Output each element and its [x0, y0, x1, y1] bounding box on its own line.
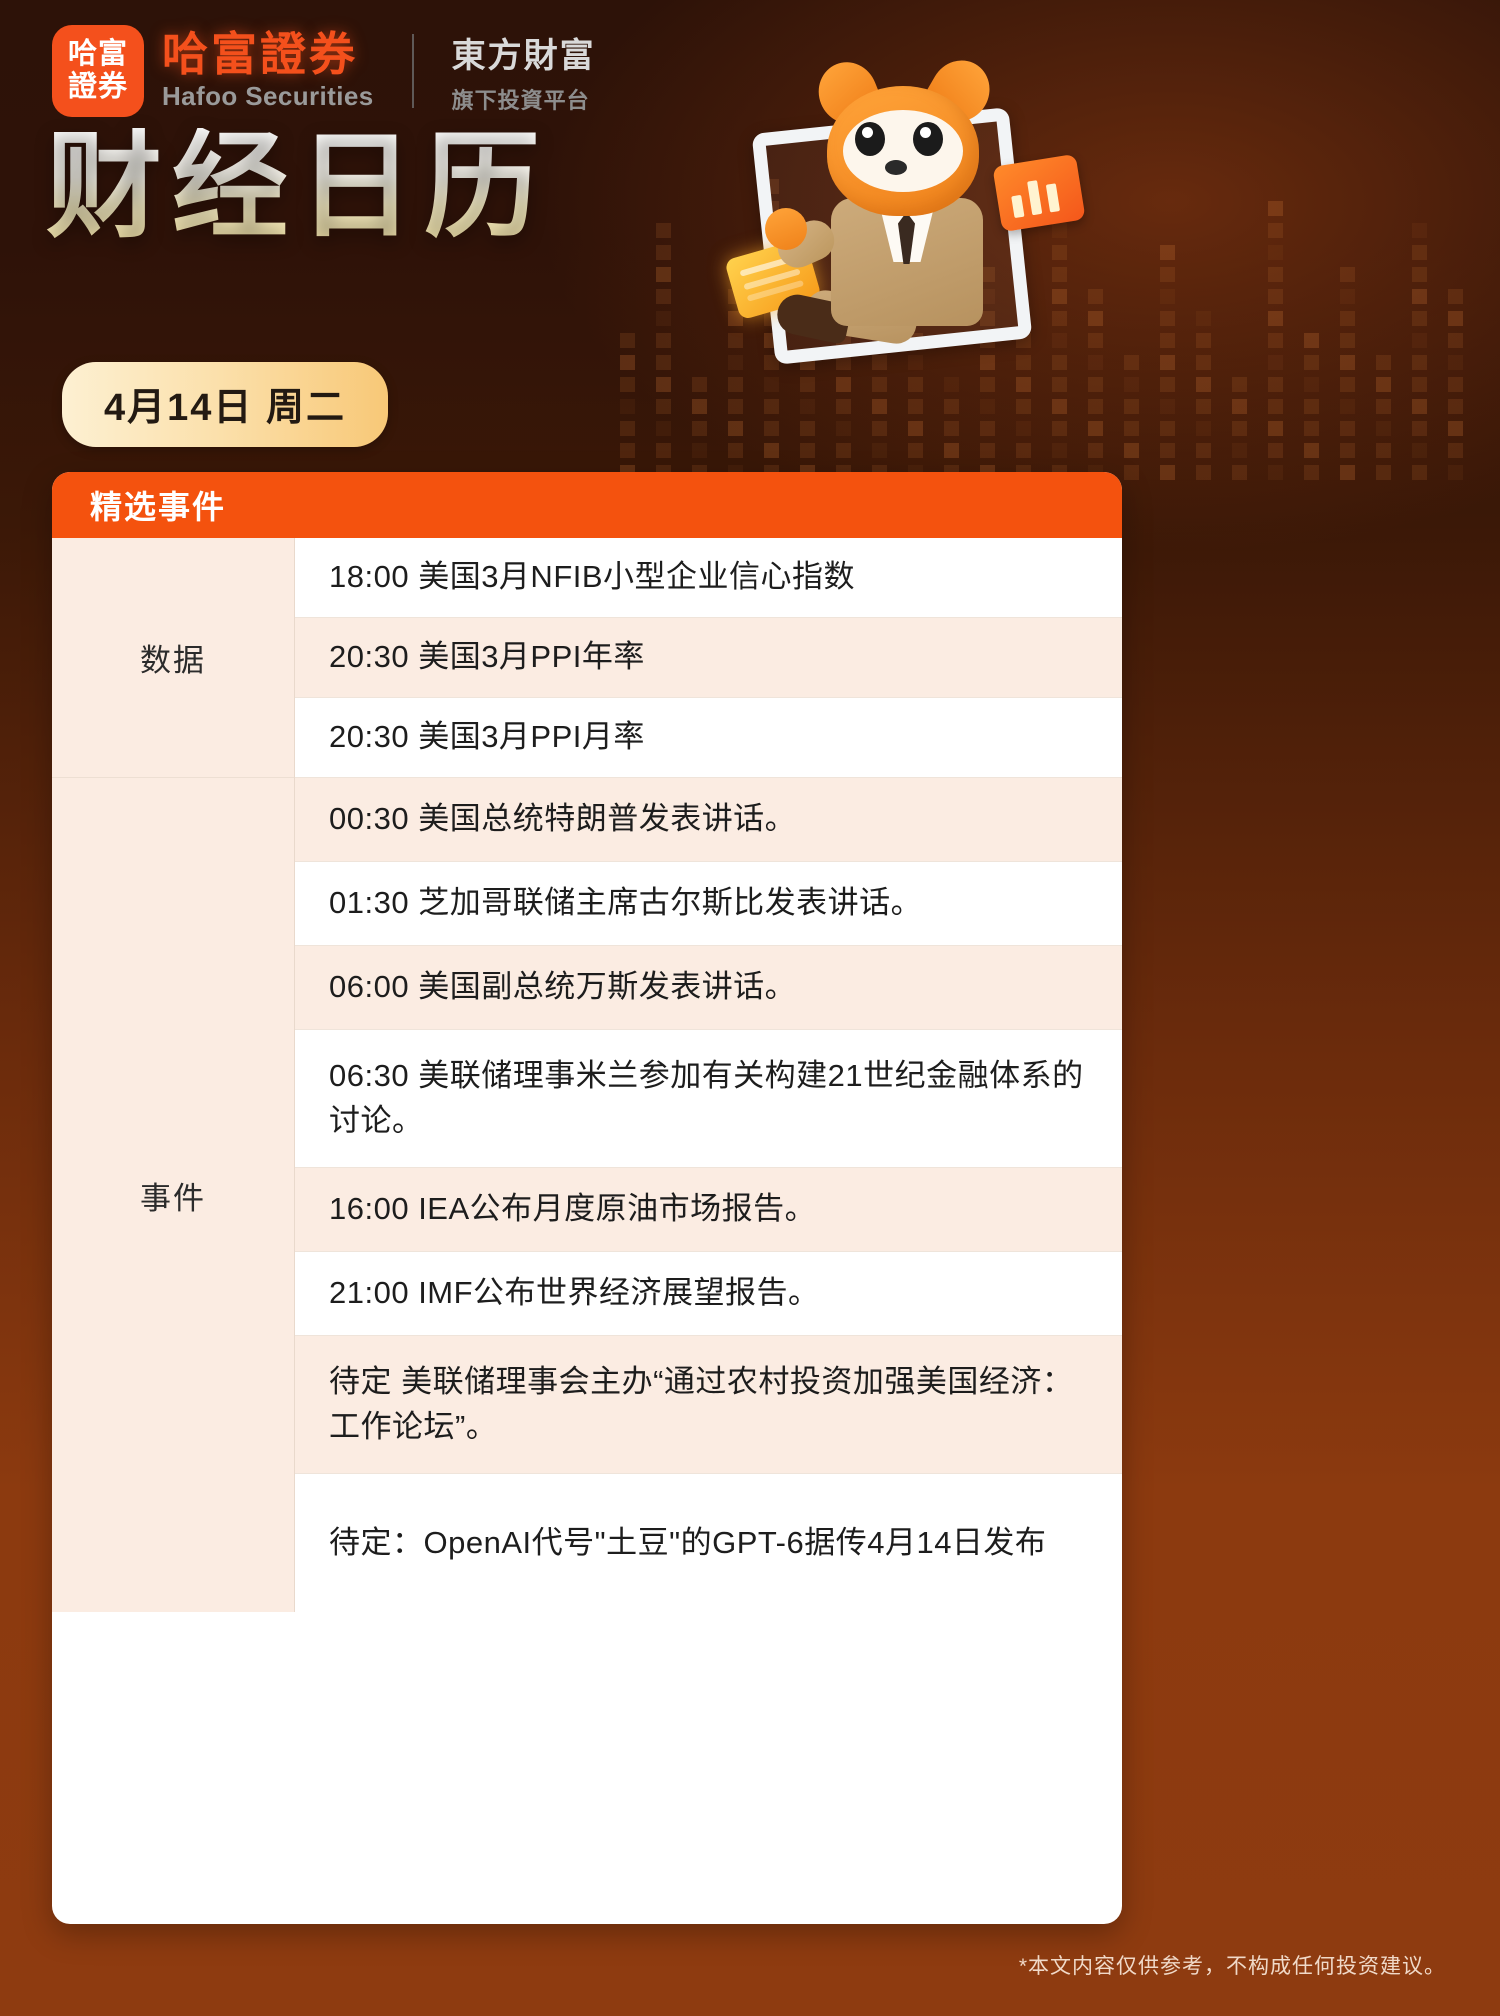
mascot-illustration: [735, 48, 1135, 368]
poster-background: 哈富 證券 哈富證券 Hafoo Securities 東方財富 旗下投資平台 …: [0, 0, 1500, 2016]
page-title: 财经日历: [46, 128, 550, 244]
chart-card-icon: [992, 154, 1085, 232]
logo-mark-line2: 證券: [68, 73, 128, 102]
event-row[interactable]: 06:00 美国副总统万斯发表讲话。: [295, 946, 1122, 1030]
brand-names: 哈富證券 Hafoo Securities: [162, 30, 374, 111]
mascot-hand: [765, 208, 807, 250]
events-table: 数据事件 18:00 美国3月NFIB小型企业信心指数20:30 美国3月PPI…: [52, 538, 1122, 1612]
event-row[interactable]: 待定：OpenAI代号"土豆"的GPT-6据传4月14日发布: [295, 1474, 1122, 1612]
disclaimer-text: *本文内容仅供参考，不构成任何投资建议。: [1019, 1950, 1446, 1980]
card-header: 精选事件: [52, 472, 1122, 538]
event-row[interactable]: 16:00 IEA公布月度原油市场报告。: [295, 1168, 1122, 1252]
event-row[interactable]: 20:30 美国3月PPI年率: [295, 618, 1122, 698]
card-header-title: 精选事件: [90, 482, 226, 528]
event-row[interactable]: 06:30 美联储理事米兰参加有关构建21世纪金融体系的讨论。: [295, 1030, 1122, 1168]
logo-mark-line1: 哈富: [68, 40, 128, 69]
brand-divider: [412, 34, 414, 108]
event-row[interactable]: 待定 美联储理事会主办“通过农村投资加强美国经济：工作论坛”。: [295, 1336, 1122, 1474]
event-row[interactable]: 00:30 美国总统特朗普发表讲话。: [295, 778, 1122, 862]
event-row[interactable]: 20:30 美国3月PPI月率: [295, 698, 1122, 778]
logo-mark: 哈富 證券: [52, 25, 144, 117]
event-row[interactable]: 21:00 IMF公布世界经济展望报告。: [295, 1252, 1122, 1336]
event-row[interactable]: 01:30 芝加哥联储主席古尔斯比发表讲话。: [295, 862, 1122, 946]
category-label: 数据: [52, 538, 294, 778]
brand-name-en: Hafoo Securities: [162, 81, 374, 112]
events-column: 18:00 美国3月NFIB小型企业信心指数20:30 美国3月PPI年率20:…: [295, 538, 1122, 1612]
parent-brand-subtitle: 旗下投資平台: [452, 83, 596, 115]
event-row[interactable]: 18:00 美国3月NFIB小型企业信心指数: [295, 538, 1122, 618]
parent-brand-name: 東方財富: [452, 28, 596, 77]
mascot-nose: [885, 160, 907, 175]
date-badge: 4月14日 周二: [62, 362, 388, 447]
parent-brand: 東方財富 旗下投資平台: [452, 28, 596, 115]
mascot-eye-left: [855, 122, 885, 156]
mascot-eye-right: [913, 122, 943, 156]
category-column: 数据事件: [52, 538, 295, 1612]
brand-name-cn: 哈富證券: [162, 30, 374, 78]
events-card: 精选事件 数据事件 18:00 美国3月NFIB小型企业信心指数20:30 美国…: [52, 472, 1122, 1924]
brand-logo-bar: 哈富 證券 哈富證券 Hafoo Securities 東方財富 旗下投資平台: [52, 25, 596, 117]
category-label: 事件: [52, 778, 294, 1612]
